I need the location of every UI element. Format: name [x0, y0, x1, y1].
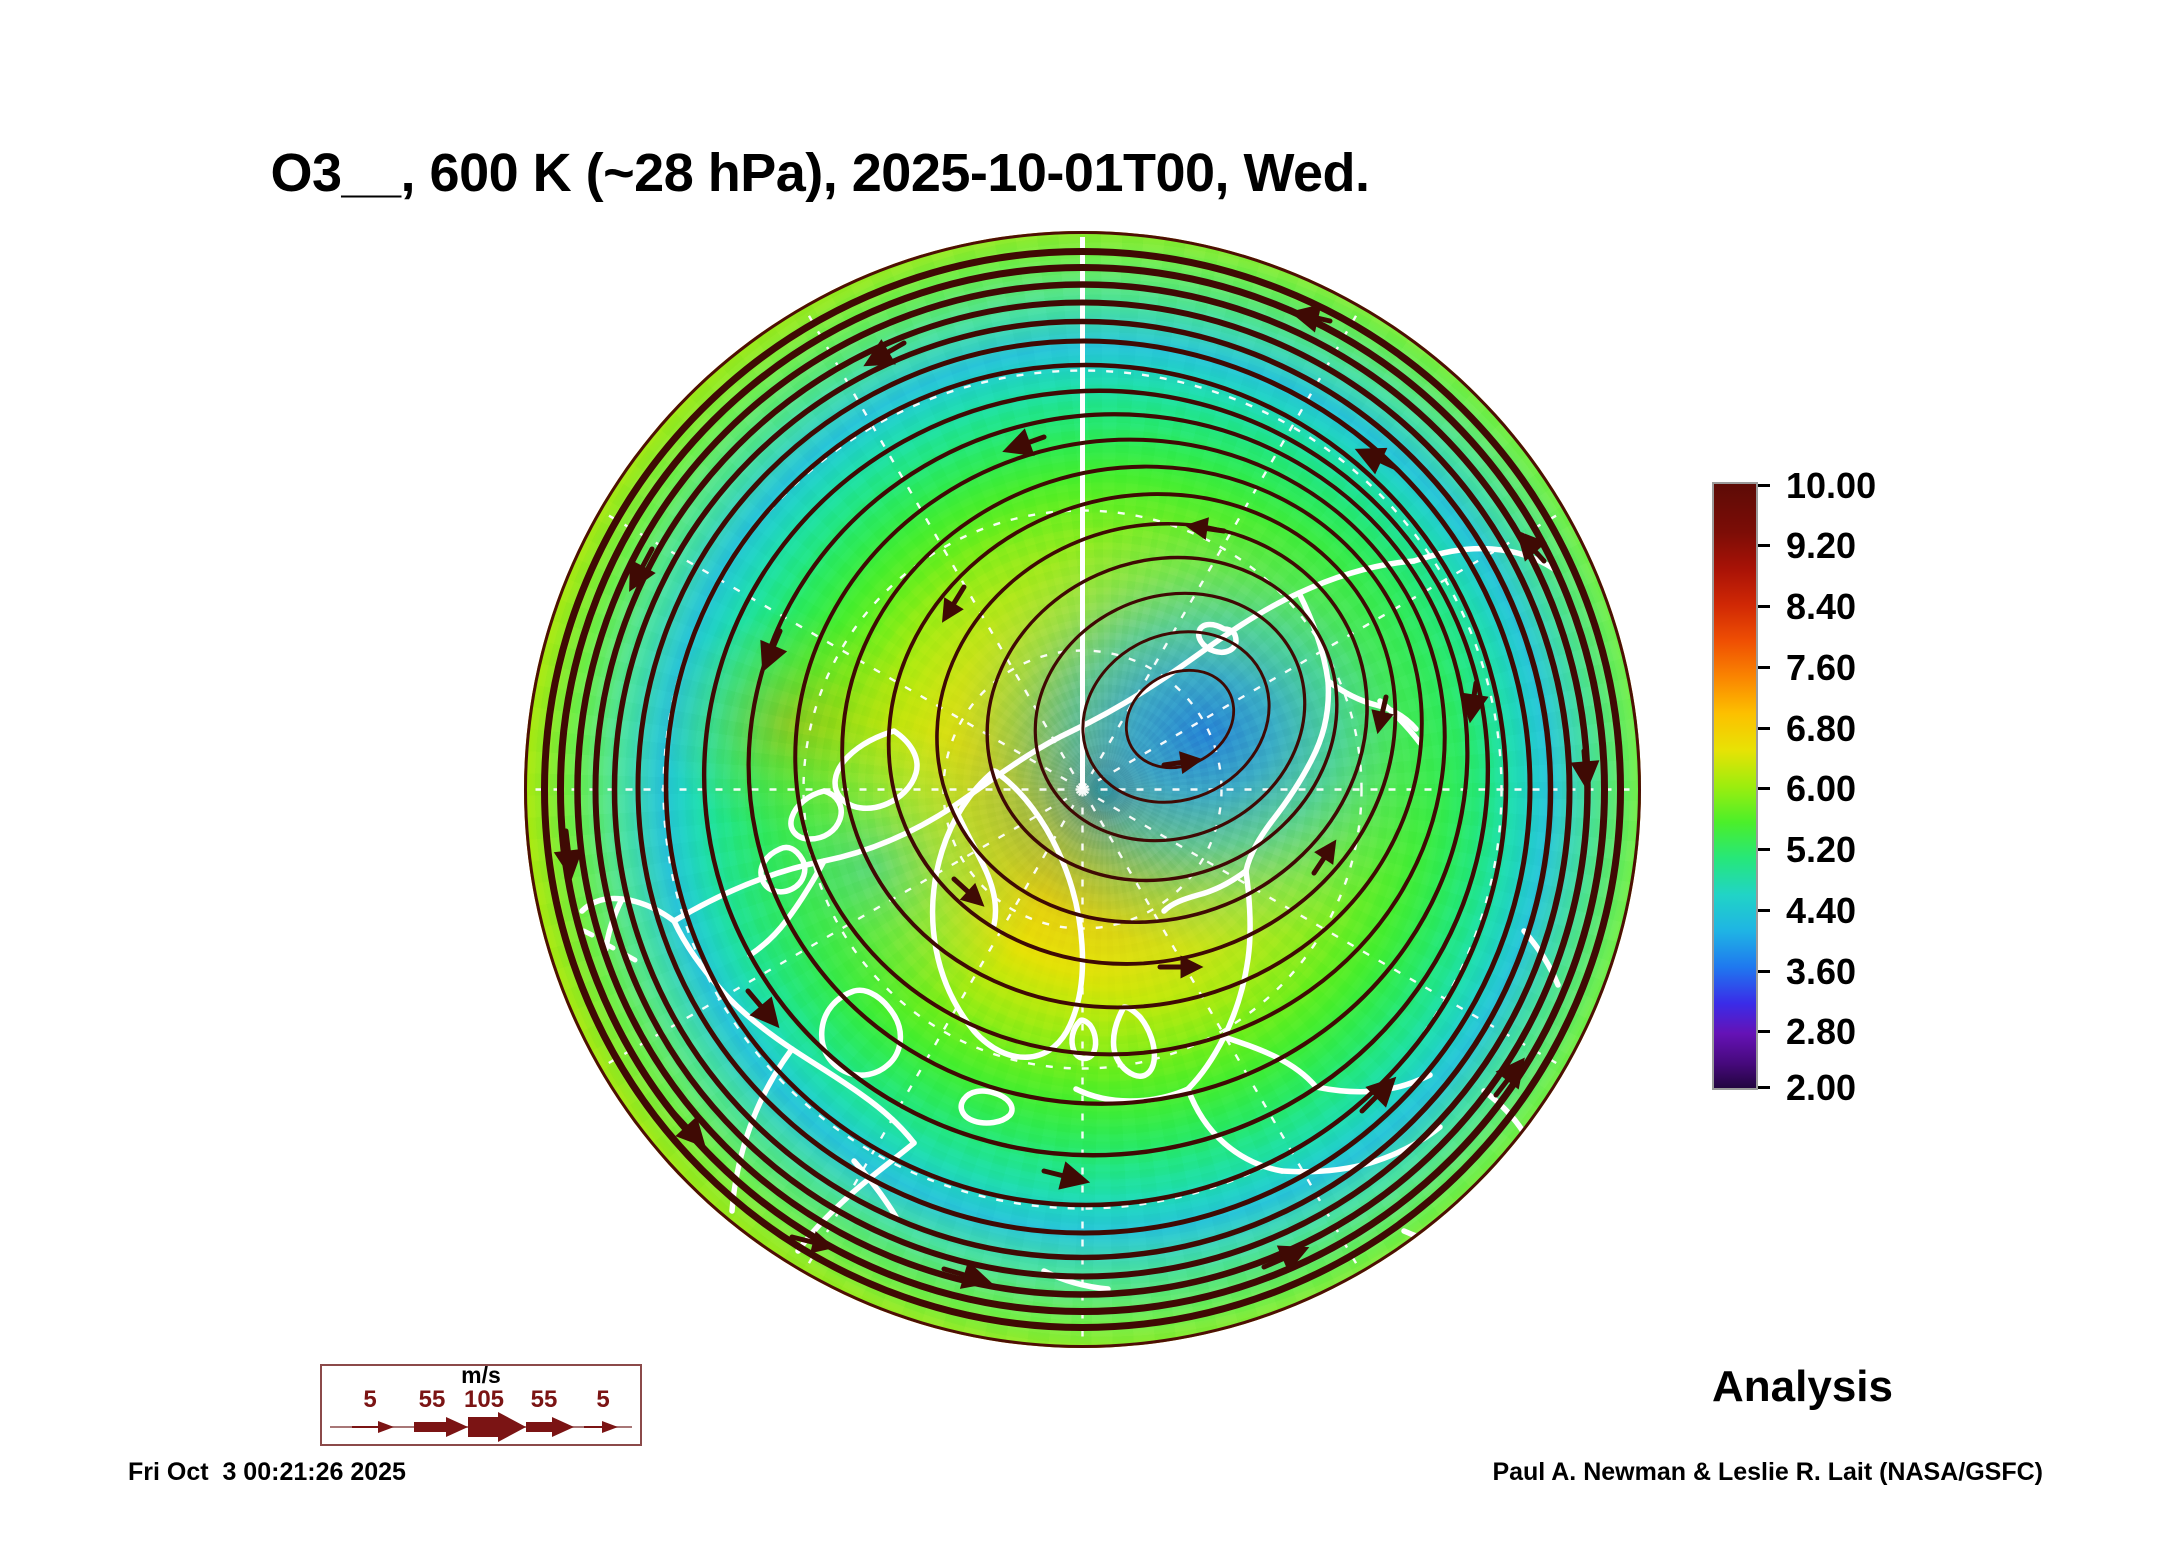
- colorbar-label: 4.40: [1786, 890, 1856, 932]
- colorbar-tick: [1758, 484, 1770, 487]
- map-disc-edge: [524, 231, 1641, 1348]
- wind-speed-legend[interactable]: m/s 5 55 105 55 5: [320, 1364, 642, 1446]
- colorbar-label: 6.00: [1786, 768, 1856, 810]
- colorbar-label: 10.00: [1786, 465, 1876, 507]
- colorbar-label: 6.80: [1786, 708, 1856, 750]
- colorbar-tick: [1758, 848, 1770, 851]
- wind-legend-arrow-scale: [322, 1410, 640, 1444]
- colorbar-tick: [1758, 970, 1770, 973]
- wind-legend-unit-label: m/s: [322, 1362, 640, 1389]
- colorbar-tick: [1758, 1030, 1770, 1033]
- colorbar-label: 7.60: [1786, 647, 1856, 689]
- colorbar-tick: [1758, 605, 1770, 608]
- colorbar-tick: [1758, 727, 1770, 730]
- page-title: O3__, 600 K (~28 hPa), 2025-10-01T00, We…: [0, 142, 1640, 204]
- colorbar-label: 5.20: [1786, 829, 1856, 871]
- polar-map-panel[interactable]: [524, 231, 1641, 1348]
- colorbar-tick: [1758, 544, 1770, 547]
- colorbar-label: 2.80: [1786, 1011, 1856, 1053]
- colorbar-tick: [1758, 666, 1770, 669]
- colorbar-label: 9.20: [1786, 525, 1856, 567]
- colorbar-gradient: [1712, 482, 1758, 1090]
- colorbar-label: 2.00: [1786, 1067, 1856, 1109]
- colorbar-tick: [1758, 909, 1770, 912]
- author-credit: Paul A. Newman & Leslie R. Lait (NASA/GS…: [1492, 1458, 2043, 1487]
- colorbar-tick: [1758, 1086, 1770, 1089]
- render-timestamp: Fri Oct 3 00:21:26 2025: [128, 1458, 406, 1487]
- colorbar-label: 3.60: [1786, 951, 1856, 993]
- colorbar[interactable]: 10.00 9.20 8.40 7.60 6.80 6.00 5.20 4.40…: [1712, 482, 2042, 1094]
- colorbar-label: 8.40: [1786, 586, 1856, 628]
- analysis-label: Analysis: [1712, 1362, 1893, 1412]
- colorbar-tick: [1758, 787, 1770, 790]
- figure-canvas: O3__, 600 K (~28 hPa), 2025-10-01T00, We…: [0, 0, 2165, 1561]
